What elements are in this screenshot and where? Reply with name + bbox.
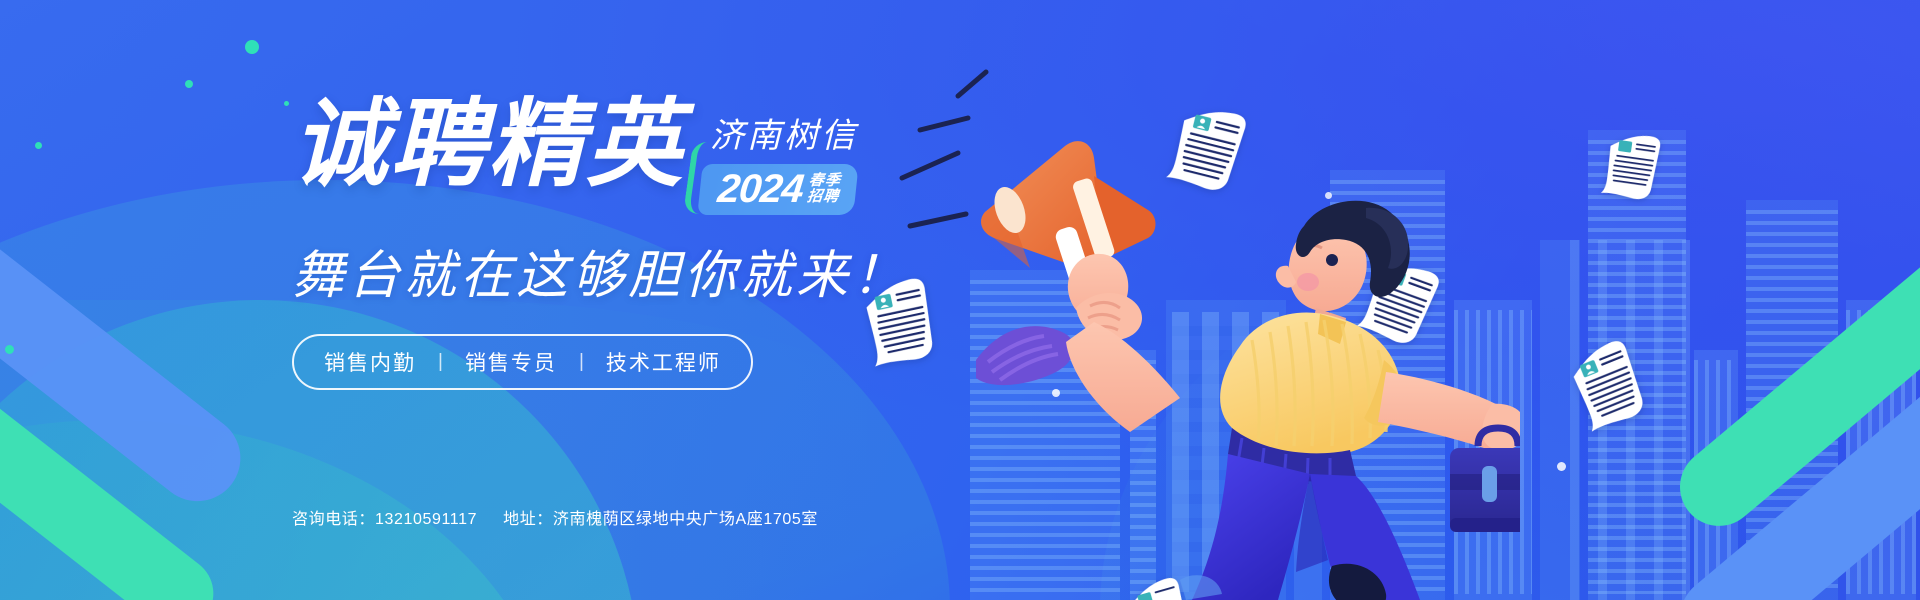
pants bbox=[1192, 454, 1420, 600]
job-position-2[interactable]: 技术工程师 bbox=[606, 347, 721, 377]
headline-row: 诚聘精英 济南树信 2024 春季 招聘 bbox=[292, 96, 1052, 215]
badge-year: 2024 bbox=[716, 169, 805, 209]
contact-info: 咨询电话：13210591117 地址：济南槐荫区绿地中央广场A座1705室 bbox=[292, 505, 818, 529]
decor-dot bbox=[185, 80, 193, 88]
contact-phone: 咨询电话：13210591117 bbox=[292, 505, 477, 529]
resume-paper-icon bbox=[1597, 127, 1666, 205]
badge-season-line2: 招聘 bbox=[806, 189, 840, 205]
cheek-blush bbox=[1297, 273, 1319, 291]
character-head bbox=[1276, 201, 1410, 311]
decor-dot bbox=[5, 345, 14, 354]
badge-year-pill: 2024 春季 招聘 bbox=[697, 164, 858, 215]
badge-season: 春季 招聘 bbox=[806, 173, 841, 205]
job-position-1[interactable]: 销售专员 bbox=[465, 347, 557, 377]
decor-dot-white bbox=[1557, 462, 1566, 471]
decor-dot bbox=[35, 142, 42, 149]
decor-dot bbox=[245, 40, 259, 54]
job-position-0[interactable]: 销售内勤 bbox=[324, 347, 416, 377]
badge-season-line1: 春季 bbox=[808, 173, 842, 189]
decor-dot bbox=[284, 101, 289, 106]
page-subtitle: 舞台就在这够胆你就来！ bbox=[292, 233, 1052, 308]
banner-content: 诚聘精英 济南树信 2024 春季 招聘 舞台就在这够胆你就来！ 销售内勤 | … bbox=[292, 96, 1052, 390]
shirt bbox=[1220, 313, 1405, 457]
job-positions-pill: 销售内勤 | 销售专员 | 技术工程师 bbox=[292, 334, 753, 390]
eye bbox=[1326, 254, 1338, 266]
building bbox=[1540, 240, 1580, 600]
recruitment-badge: 济南树信 2024 春季 招聘 bbox=[700, 108, 858, 215]
company-name: 济南树信 bbox=[700, 108, 858, 157]
recruitment-banner: 诚聘精英 济南树信 2024 春季 招聘 舞台就在这够胆你就来！ 销售内勤 | … bbox=[0, 0, 1920, 600]
page-title: 诚聘精英 bbox=[292, 96, 684, 194]
job-separator: | bbox=[438, 351, 443, 373]
contact-address: 地址：济南槐荫区绿地中央广场A座1705室 bbox=[503, 505, 818, 529]
job-separator: | bbox=[579, 351, 584, 373]
